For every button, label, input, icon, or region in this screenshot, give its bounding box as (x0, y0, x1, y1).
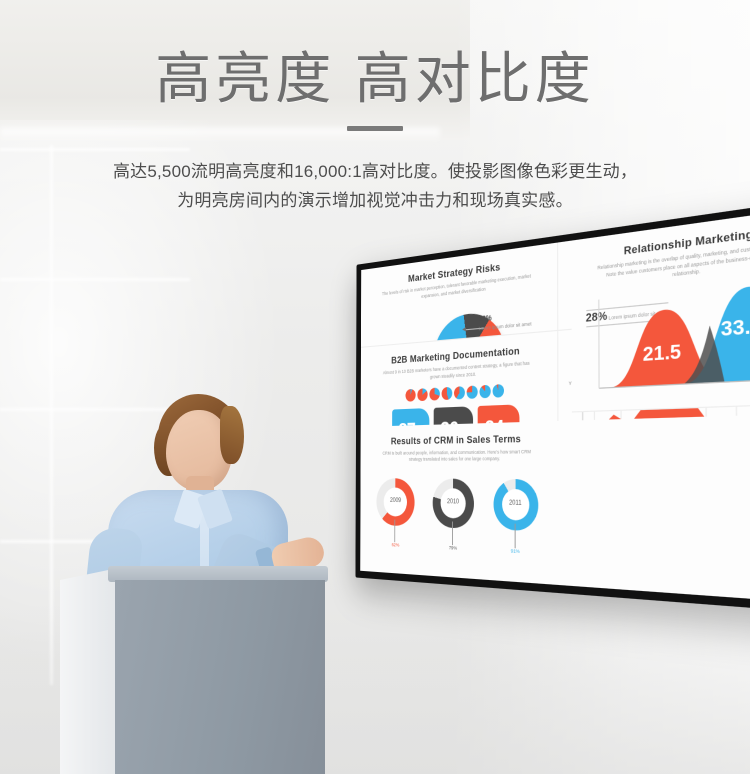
pie-callout-value: 12% (479, 315, 492, 324)
slide-market-strategy-risks: Market Strategy Risks The levels of risk… (361, 242, 558, 348)
podium-front (115, 580, 325, 774)
pie-icon (492, 384, 503, 398)
leader-arrow (462, 327, 466, 332)
donut-percent: 91% (493, 547, 538, 555)
slide-b2b-marketing-documentation: B2B Marketing Documentation Almost 9 in … (361, 331, 559, 426)
pie-icon-row (369, 381, 547, 403)
presenter-figure (60, 380, 360, 774)
subtitle-line-2: 为明亮房间内的演示增加视觉冲击力和现场真实感。 (65, 186, 685, 216)
display-area: Market Strategy Risks The levels of risk… (340, 250, 750, 650)
headline-block: 高亮度 高对比度 高达5,500流明高亮度和16,000:1高对比度。使投影图像… (0, 0, 750, 216)
slide-subtitle: CRM is built around people, information,… (380, 448, 534, 463)
donut-chart-group: 2009 62% 2010 79% 2011 91% (368, 470, 548, 577)
slide-results-of-crm: Results of CRM in Sales Terms CRM is bui… (360, 421, 558, 585)
donut-percent: 62% (377, 541, 415, 548)
bell-curve-chart: 28% Lorem ipsum dolor sit amet 21.5 33.1 (582, 273, 750, 396)
bell-label-blue: 33.1 (721, 313, 750, 342)
donut-2010: 2010 79% (433, 479, 474, 529)
page-subtitle: 高达5,500流明高亮度和16,000:1高对比度。使投影图像色彩更生动， 为明… (65, 157, 685, 217)
slide-relationship-marketing-panel: Relationship Marketing Relationship mark… (571, 206, 750, 413)
donut-year-label: 2009 (377, 497, 415, 504)
donut-percent: 79% (433, 544, 474, 552)
page-title: 高亮度 高对比度 (0, 0, 750, 110)
donut-stem (452, 521, 453, 545)
presenter-hair-side (220, 406, 244, 464)
pie-icon (479, 384, 490, 398)
pie-icon (417, 388, 427, 401)
podium-side-panel (60, 568, 118, 774)
flat-panel-display[interactable]: Market Strategy Risks The levels of risk… (355, 197, 750, 614)
bell-label-red: 21.5 (643, 340, 681, 367)
title-divider (347, 126, 403, 131)
pie-callout-dark: 12% Lorem ipsum dolor sit amet (479, 310, 532, 333)
slide-title: Results of CRM in Sales Terms (369, 432, 549, 447)
donut-stem (395, 520, 396, 543)
donut-2011: 2011 91% (493, 479, 538, 531)
pie-icon (466, 385, 477, 399)
donut-year-label: 2011 (493, 500, 538, 508)
pie-icon (454, 386, 465, 399)
pie-icon (441, 386, 452, 399)
donut-year-label: 2010 (433, 499, 474, 506)
donut-2009: 2009 62% (377, 478, 415, 526)
pie-icon (405, 388, 415, 401)
subtitle-line-1: 高达5,500流明高亮度和16,000:1高对比度。使投影图像色彩更生动， (65, 157, 685, 187)
donut-stem (514, 524, 515, 549)
pie-icon (429, 387, 439, 400)
